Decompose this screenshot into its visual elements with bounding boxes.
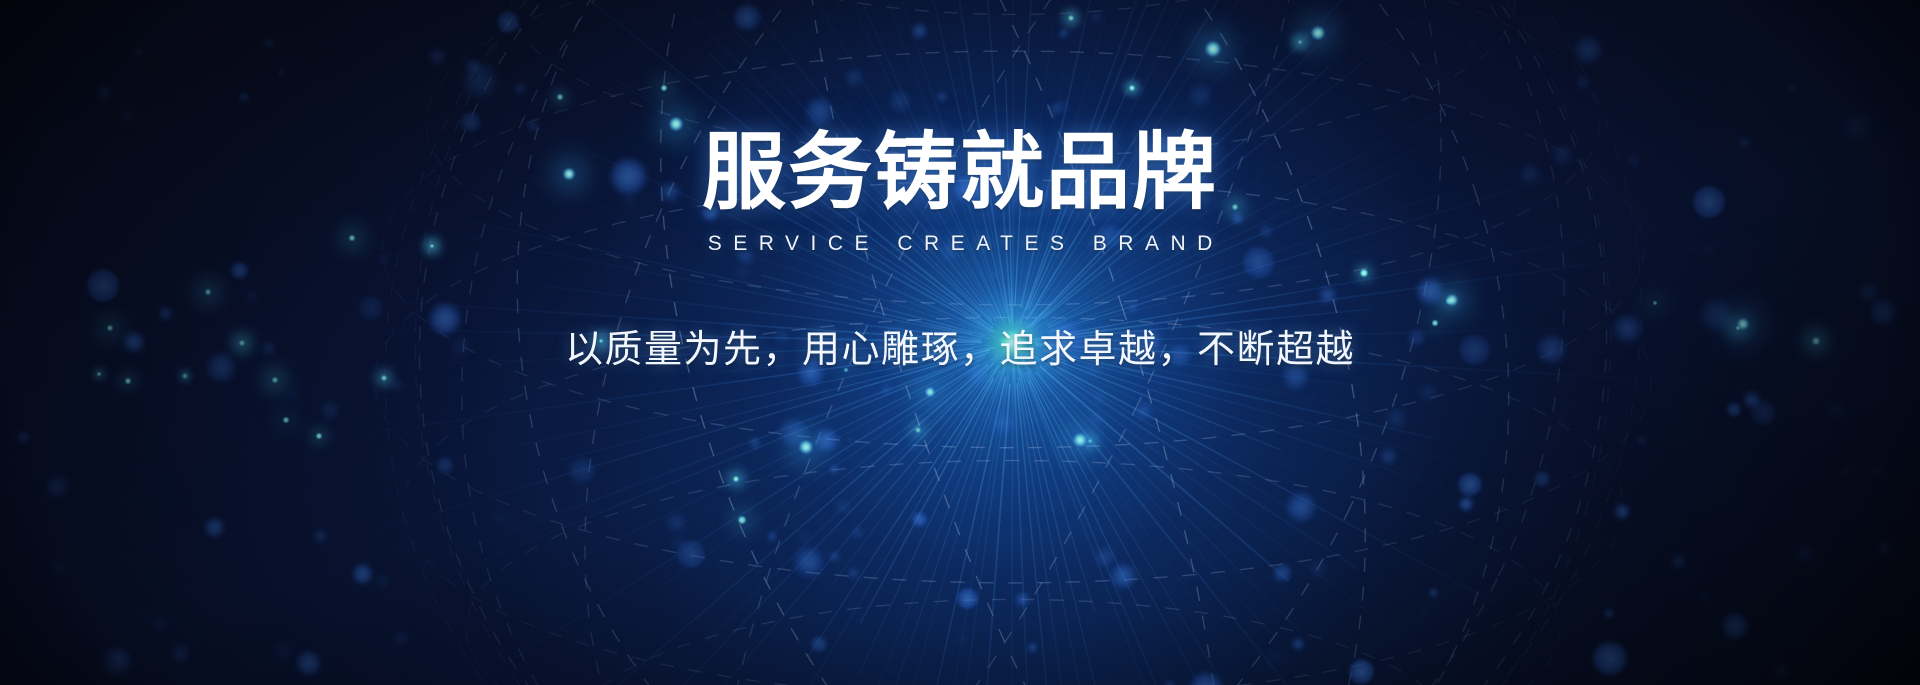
banner-subtitle-english: SERVICE CREATES BRAND — [696, 232, 1224, 256]
banner-subtitle-chinese: 以质量为先，用心雕琢，追求卓越，不断超越 — [565, 318, 1355, 373]
hero-banner: 服务铸就品牌 SERVICE CREATES BRAND 以质量为先，用心雕琢，… — [0, 0, 1920, 685]
banner-title: 服务铸就品牌 — [702, 128, 1218, 216]
